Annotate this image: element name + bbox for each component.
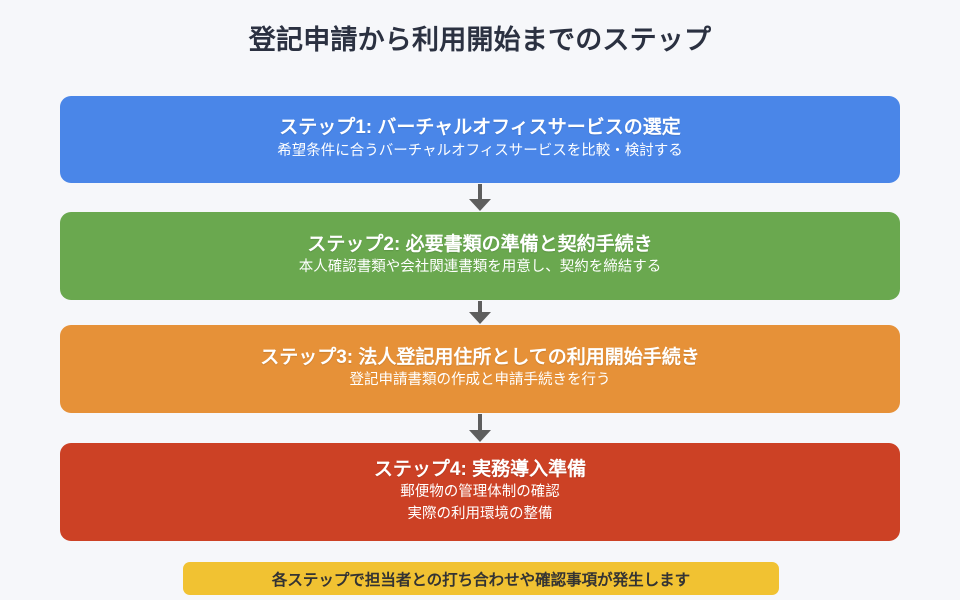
connector-arrow-step2-step3: [476, 301, 484, 325]
arrow-down-icon: [469, 430, 491, 442]
step-4-title: ステップ4: 実務導入準備: [374, 458, 586, 482]
page-title: 登記申請から利用開始までのステップ: [0, 18, 960, 57]
footer-note-text: 各ステップで担当者との打ち合わせや確認事項が発生します: [272, 568, 690, 590]
step-box-1[interactable]: ステップ1: バーチャルオフィスサービスの選定 希望条件に合うバーチャルオフィス…: [60, 96, 900, 183]
step-1-title: ステップ1: バーチャルオフィスサービスの選定: [279, 116, 681, 140]
step-box-2[interactable]: ステップ2: 必要書類の準備と契約手続き 本人確認書類や会社関連書類を用意し、契…: [60, 212, 900, 300]
footer-note-banner: 各ステップで担当者との打ち合わせや確認事項が発生します: [183, 562, 779, 595]
step-4-description-2: 実際の利用環境の整備: [408, 504, 553, 526]
arrow-shaft-icon: [478, 414, 482, 431]
step-3-description-1: 登記申請書類の作成と申請手続きを行う: [350, 370, 611, 392]
step-1-description-1: 希望条件に合うバーチャルオフィスサービスを比較・検討する: [277, 141, 683, 163]
arrow-down-icon: [469, 199, 491, 211]
step-box-4[interactable]: ステップ4: 実務導入準備 郵便物の管理体制の確認 実際の利用環境の整備: [60, 443, 900, 541]
connector-arrow-step1-step2: [476, 184, 484, 212]
step-3-title: ステップ3: 法人登記用住所としての利用開始手続き: [260, 346, 700, 370]
step-4-description-1: 郵便物の管理体制の確認: [400, 482, 560, 504]
step-2-description-1: 本人確認書類や会社関連書類を用意し、契約を締結する: [299, 257, 662, 279]
connector-arrow-step3-step4: [476, 414, 484, 443]
arrow-down-icon: [469, 312, 491, 324]
step-box-3[interactable]: ステップ3: 法人登記用住所としての利用開始手続き 登記申請書類の作成と申請手続…: [60, 325, 900, 413]
step-2-title: ステップ2: 必要書類の準備と契約手続き: [307, 233, 652, 257]
arrow-shaft-icon: [478, 184, 482, 200]
flowchart-canvas: 登記申請から利用開始までのステップ ステップ1: バーチャルオフィスサービスの選…: [0, 0, 960, 600]
